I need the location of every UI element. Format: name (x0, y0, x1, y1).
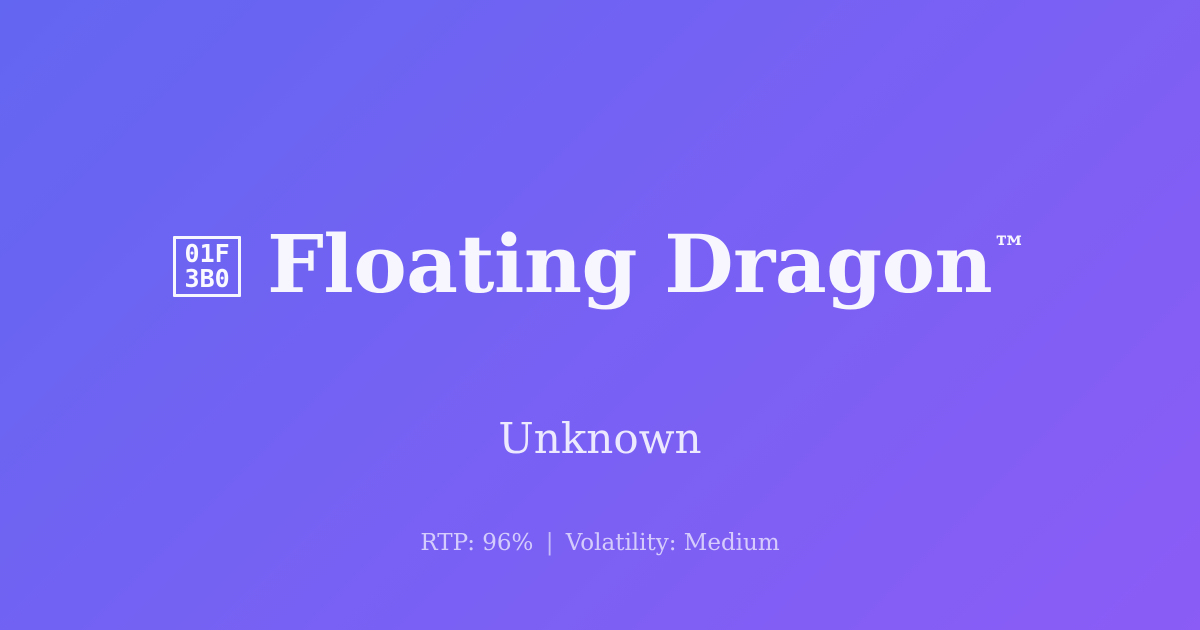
game-stats-line: RTP: 96% | Volatility: Medium (0, 530, 1200, 556)
slot-machine-emoji-missing-glyph-icon: 01F 3B0 (173, 236, 241, 297)
game-title-row: 01F 3B0 Floating Dragon ™ (173, 167, 1027, 360)
game-preview-card: 01F 3B0 Floating Dragon ™ Unknown RTP: 9… (0, 0, 1200, 630)
stats-separator: | (541, 530, 559, 556)
rtp-value: RTP: 96% (420, 530, 533, 556)
game-provider-label: Unknown (498, 415, 701, 463)
missing-glyph-codepoint-top: 01F (185, 241, 230, 266)
page-title: Floating Dragon ™ (267, 221, 1027, 307)
missing-glyph-codepoint-bottom: 3B0 (185, 266, 230, 291)
game-title-text: Floating Dragon (267, 221, 992, 307)
volatility-value: Volatility: Medium (566, 530, 780, 556)
trademark-symbol: ™ (993, 232, 1027, 266)
